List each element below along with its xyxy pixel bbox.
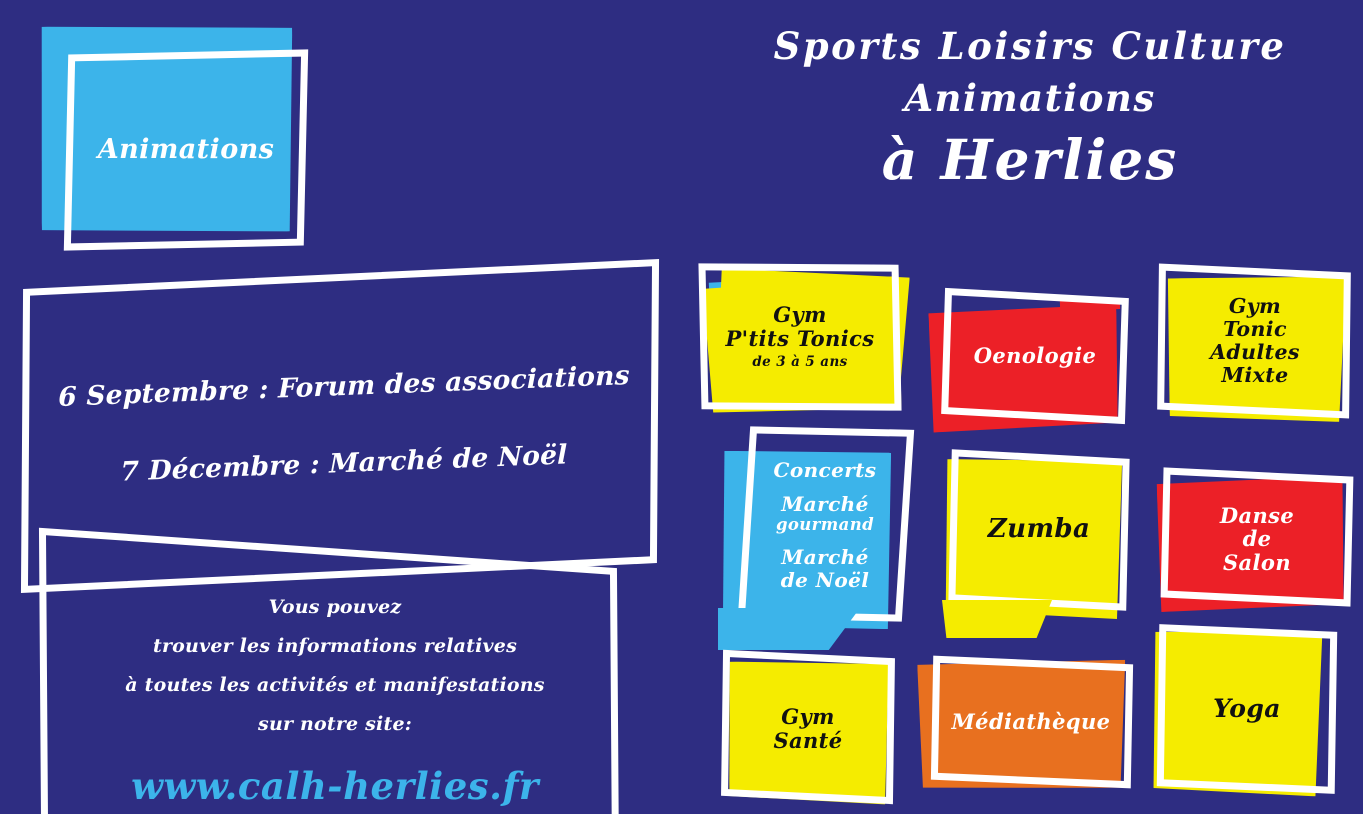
card-gym-tonic-adultes-mixte-frame — [1157, 263, 1351, 418]
decorative-cyan-bottom-sliver — [718, 608, 860, 650]
card-zumba-frame — [948, 449, 1129, 611]
date-item: 6 Septembre : Forum des associations — [58, 360, 629, 413]
card-danse-de-salon-frame — [1161, 467, 1354, 606]
info-panel: Vous pouvez trouver les informations rel… — [55, 596, 615, 808]
info-line: sur notre site: — [258, 713, 412, 735]
dates-panel: 6 Septembre : Forum des associations 7 D… — [40, 288, 648, 561]
card-gym-sante-frame — [721, 650, 895, 804]
card-concerts-marches-frame — [738, 426, 914, 621]
card-mediatheque-frame — [931, 656, 1133, 789]
animations-badge-frame — [64, 49, 308, 250]
info-line: Vous pouvez — [269, 596, 402, 618]
page-title: Sports Loisirs Culture Animations à Herl… — [720, 22, 1340, 194]
title-line-2: Animations — [720, 72, 1340, 126]
website-link[interactable]: www.calh-herlies.fr — [131, 764, 539, 808]
decorative-yellow-bottom-sliver — [942, 600, 1052, 638]
card-yoga-frame — [1157, 624, 1337, 794]
card-oenologie-frame — [941, 288, 1129, 424]
info-line: trouver les informations relatives — [153, 635, 517, 657]
date-item: 7 Décembre : Marché de Noël — [121, 439, 568, 487]
title-line-1: Sports Loisirs Culture — [720, 22, 1340, 72]
title-line-3: à Herlies — [720, 126, 1340, 195]
info-line: à toutes les activités et manifestations — [125, 674, 544, 696]
poster-canvas: Animations Sports Loisirs Culture Animat… — [0, 0, 1363, 814]
card-gym-ptits-tonics-frame — [698, 263, 901, 410]
